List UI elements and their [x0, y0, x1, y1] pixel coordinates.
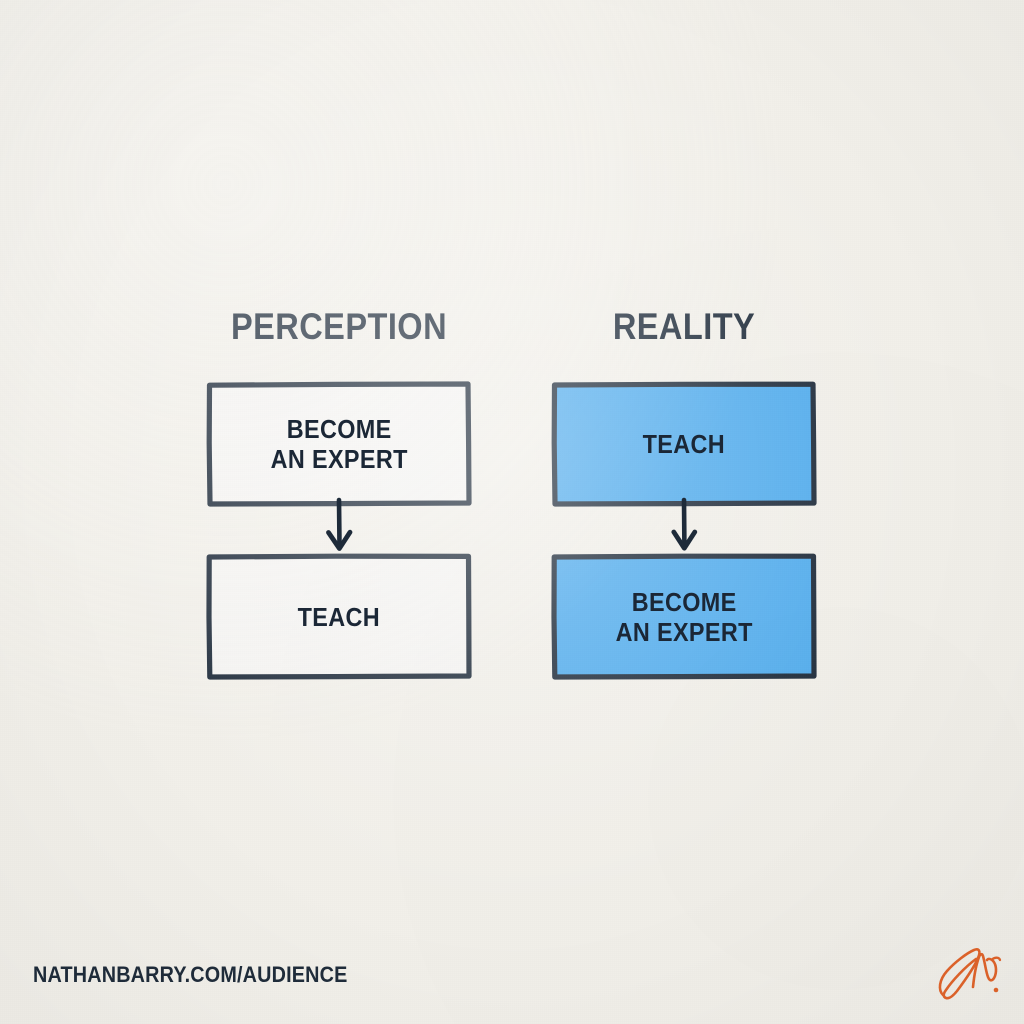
column-heading-reality: REALITY — [567, 307, 801, 347]
box-outline-reality-step-1 — [551, 381, 817, 507]
box-outline-perception-step-2 — [206, 553, 472, 680]
flow-box-perception-step-2[interactable]: TEACH — [206, 553, 472, 680]
footer-url[interactable]: NATHANBARRY.COM/AUDIENCE — [33, 962, 348, 988]
infographic-canvas: PERCEPTION BECOME AN EXPERT — [0, 0, 1024, 1024]
flow-box-perception-step-1[interactable]: BECOME AN EXPERT — [206, 381, 472, 507]
flow-box-reality-step-2[interactable]: BECOME AN EXPERT — [551, 553, 817, 680]
box-outline-perception-step-1 — [206, 381, 472, 507]
column-perception: PERCEPTION BECOME AN EXPERT — [206, 307, 472, 347]
flow-box-reality-step-1[interactable]: TEACH — [551, 381, 817, 507]
signature-logo-icon — [930, 938, 1008, 1010]
paper-texture-overlay — [0, 0, 1024, 1024]
box-outline-reality-step-2 — [551, 553, 817, 680]
column-heading-perception: PERCEPTION — [222, 307, 456, 347]
column-reality: REALITY TEACH — [551, 307, 817, 347]
flow-arrow-perception — [319, 499, 359, 559]
flow-arrow-reality — [664, 499, 704, 559]
vignette-overlay — [0, 0, 1024, 1024]
